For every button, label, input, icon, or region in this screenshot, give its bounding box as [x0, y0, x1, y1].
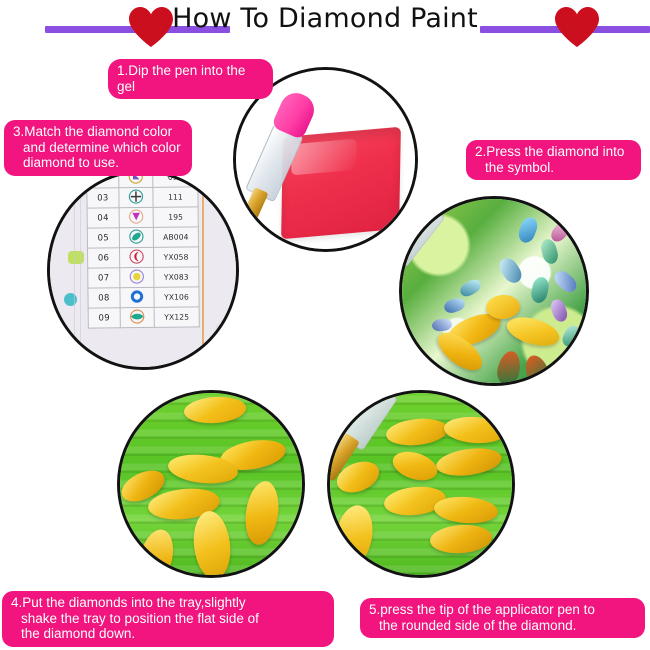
- page-title: How To Diamond Paint: [0, 3, 650, 34]
- table-row: 04195: [87, 207, 198, 228]
- step-3-line: and determine which color: [13, 140, 183, 156]
- step-3-line: 3.Match the diamond color: [13, 124, 183, 140]
- step-4-line: 4.Put the diamonds into the tray,slightl…: [11, 595, 325, 611]
- chart-row-number: 06: [88, 248, 120, 268]
- table-row: 09YX125: [88, 307, 199, 328]
- table-row: 06YX058: [88, 247, 199, 268]
- step-3-line: diamond to use.: [13, 155, 183, 171]
- chart-row-code: 111: [153, 187, 198, 207]
- step-4-line: the diamond down.: [11, 626, 325, 642]
- chart-row-code: YX058: [153, 247, 198, 267]
- step-5-line: 5.press the tip of the applicator pen to: [369, 602, 636, 618]
- chart-row-number: 09: [88, 308, 120, 328]
- chart-row-number: 08: [88, 288, 120, 308]
- triangle-down-icon: [128, 208, 143, 223]
- crescent-icon: [129, 248, 144, 263]
- color-symbol-table: 02093031110419505AB00406YX05807YX08308YX…: [86, 170, 200, 329]
- chart-row-code: 195: [153, 207, 198, 227]
- chart-row-symbol: [119, 207, 153, 227]
- step-1-label: 1.Dip the pen into the gel: [108, 59, 273, 99]
- chart-row-number: 03: [87, 188, 119, 208]
- chart-row-symbol: [119, 247, 153, 267]
- filled-circle-icon: [129, 268, 144, 283]
- infographic-canvas: How To Diamond Paint: [0, 0, 650, 650]
- table-row: 03111: [87, 187, 198, 208]
- chart-row-symbol: [120, 307, 154, 327]
- step-5-line: the rounded side of the diamond.: [369, 618, 636, 634]
- chart-row-code: YX125: [154, 307, 199, 327]
- chart-row-code: YX083: [154, 267, 199, 287]
- chart-row-code: AB004: [153, 227, 198, 247]
- color-symbol-rows: 02093031110419505AB00406YX05807YX08308YX…: [87, 170, 200, 328]
- step-4-line: shake the tray to position the flat side…: [11, 611, 325, 627]
- chart-row-symbol: [120, 267, 154, 287]
- chart-row-symbol: [119, 187, 153, 207]
- chart-row-symbol: [120, 287, 154, 307]
- photo-press-diamond-on-canvas: [399, 196, 589, 386]
- chart-row-number: 07: [88, 268, 120, 288]
- step-2-label: 2.Press the diamond intothe symbol.: [466, 140, 641, 180]
- ellipse-icon: [129, 228, 144, 243]
- chart-row-number: 05: [87, 228, 119, 248]
- plus-icon: [128, 188, 143, 203]
- step-5-label: 5.press the tip of the applicator pen to…: [360, 598, 645, 638]
- photo-pen-picking-diamond: [327, 390, 515, 578]
- chart-row-symbol: [119, 227, 153, 247]
- table-row: 08YX106: [88, 287, 199, 308]
- chart-margin-line: [202, 170, 204, 370]
- chart-row-code: YX106: [154, 287, 199, 307]
- step-4-label: 4.Put the diamonds into the tray,slightl…: [2, 591, 334, 647]
- photo-color-chart: 02093031110419505AB00406YX05807YX08308YX…: [47, 170, 239, 370]
- chart-row-number: 04: [87, 208, 119, 228]
- table-row: 07YX083: [88, 267, 199, 288]
- step-1-line: 1.Dip the pen into the gel: [117, 63, 264, 94]
- step-3-label: 3.Match the diamond colorand determine w…: [4, 120, 192, 176]
- ring-icon: [129, 288, 144, 303]
- photo-diamonds-in-tray: [117, 390, 305, 578]
- step-2-line: the symbol.: [475, 160, 632, 176]
- table-row: 05AB004: [87, 227, 198, 248]
- step-2-line: 2.Press the diamond into: [475, 144, 632, 160]
- leaf-icon: [130, 308, 145, 323]
